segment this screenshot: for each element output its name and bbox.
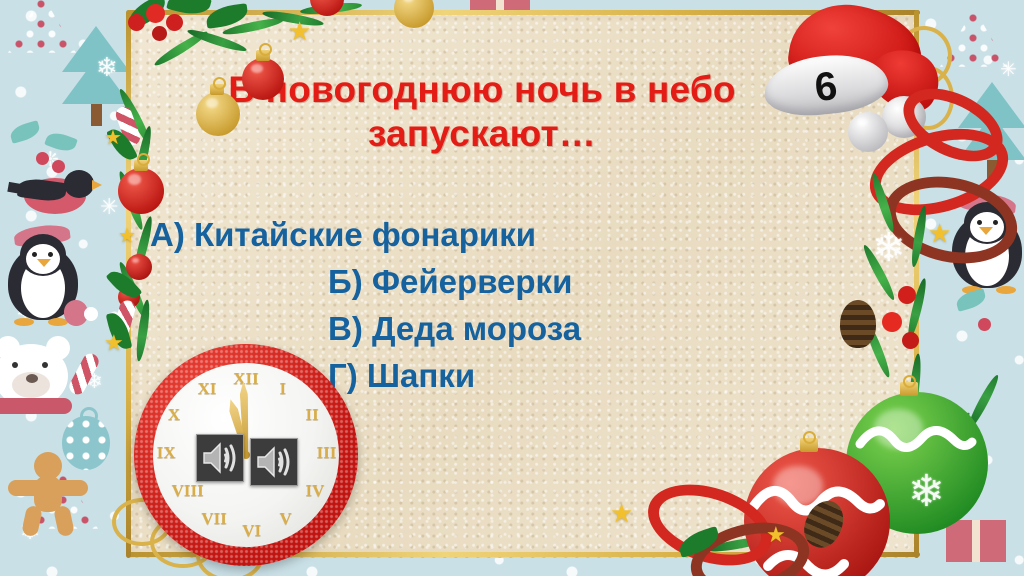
pinecone-icon [840, 300, 876, 348]
clock-numeral-x: X [168, 405, 180, 425]
clock-numeral-xi: XI [198, 379, 217, 399]
star-icon: ★ [104, 128, 122, 148]
polar-bear-icon [0, 336, 82, 418]
bauble-silver [848, 112, 888, 152]
bullfinch-bird-icon [8, 168, 102, 224]
bauble-cap [256, 50, 270, 61]
clock-numeral-i: I [279, 379, 286, 399]
star-icon: ★ [288, 18, 311, 44]
clock-numeral-iv: IV [306, 481, 325, 501]
answer-option-a[interactable]: А) Китайские фонарики [150, 212, 850, 259]
speaker-icon [197, 435, 243, 481]
pattern-bauble-icon [62, 416, 110, 470]
bauble-gold [196, 92, 240, 136]
bauble-red [118, 168, 164, 214]
holly-leaf-icon [956, 292, 986, 308]
holly-leaf-icon [46, 134, 76, 150]
bauble-cap [800, 438, 818, 452]
berry-icon [146, 4, 165, 23]
sound-button-1[interactable] [196, 434, 244, 482]
clock-numeral-v: V [279, 509, 291, 529]
clock-numeral-viii: VIII [172, 481, 204, 501]
santa-hat-badge: 6 [742, 4, 930, 144]
snowflake-icon: ❄ [96, 54, 118, 80]
snowflake-icon: ❄ [908, 470, 945, 514]
bauble-cap [210, 84, 224, 95]
answer-option-b[interactable]: Б) Фейерверки [150, 259, 850, 306]
bauble-red [242, 58, 284, 100]
berry-icon [882, 312, 902, 332]
star-icon: ★ [118, 226, 136, 246]
berry-icon [36, 152, 49, 165]
berry-icon [978, 318, 991, 331]
sound-button-2[interactable] [250, 438, 298, 486]
star-icon: ★ [104, 332, 124, 354]
snowflake-icon: ✳ [100, 196, 118, 218]
berry-icon [128, 14, 145, 31]
star-icon: ★ [610, 500, 633, 526]
star-icon: ★ [928, 220, 951, 246]
midnight-clock: XII I II III IV V VI VII VIII IX X XI [134, 344, 358, 566]
bauble-red [126, 254, 152, 280]
clock-numeral-iii: III [317, 443, 337, 463]
berry-icon [166, 14, 183, 31]
clock-face: XII I II III IV V VI VII VIII IX X XI [153, 363, 339, 547]
berry-icon [52, 160, 65, 173]
snowflake-icon: ✳ [1000, 60, 1017, 80]
clock-numeral-ix: IX [157, 443, 176, 463]
holly-leaf-icon [10, 124, 40, 140]
berry-icon [898, 286, 916, 304]
bauble-cap [900, 382, 918, 396]
berry-icon [152, 26, 167, 41]
clock-numeral-vii: VII [201, 509, 227, 529]
quiz-slide: ❄ ❊ ✳ ❄ ❄ ❄ ❄ ✳ ❄ [0, 0, 1024, 576]
clock-numeral-vi: VI [242, 521, 261, 541]
bauble-cap [134, 160, 148, 171]
berry-icon [902, 332, 919, 349]
clock-numeral-ii: II [306, 405, 319, 425]
speaker-icon [251, 439, 297, 485]
clock-numeral-xii: XII [233, 369, 259, 389]
star-icon: ★ [766, 524, 786, 546]
snowflake-icon: ❄ [872, 228, 906, 268]
